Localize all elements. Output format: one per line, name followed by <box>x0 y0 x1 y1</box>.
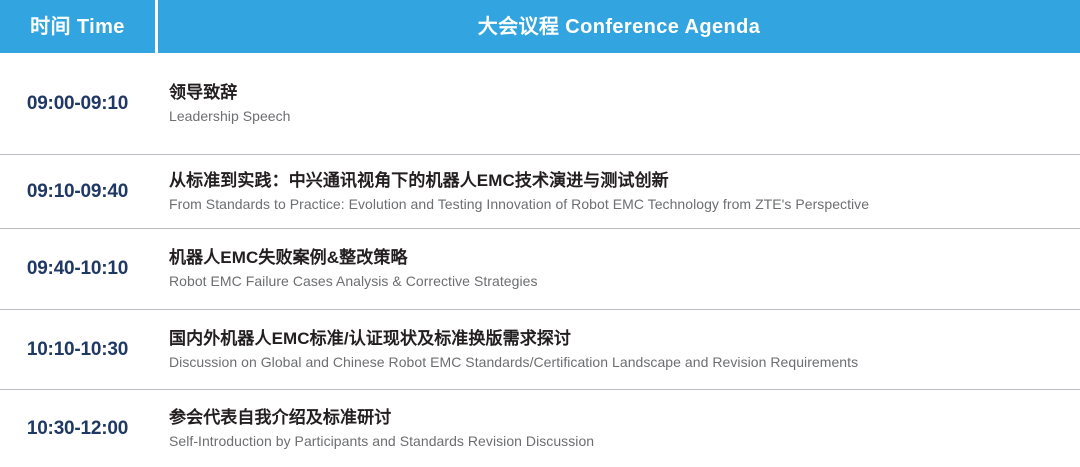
row-time-cell: 09:10-09:40 <box>0 181 155 203</box>
row-title-en: Self-Introduction by Participants and St… <box>169 432 1066 451</box>
table-body: 09:00-09:10 领导致辞 Leadership Speech 09:10… <box>0 53 1080 467</box>
row-agenda-cell: 从标准到实践：中兴通讯视角下的机器人EMC技术演进与测试创新 From Stan… <box>155 170 1080 214</box>
row-title-cn: 机器人EMC失败案例&整改策略 <box>169 247 1066 270</box>
row-agenda-cell: 机器人EMC失败案例&整改策略 Robot EMC Failure Cases … <box>155 247 1080 291</box>
table-row: 09:10-09:40 从标准到实践：中兴通讯视角下的机器人EMC技术演进与测试… <box>0 155 1080 229</box>
row-time-text: 09:10-09:40 <box>27 181 128 203</box>
row-title-cn: 领导致辞 <box>169 82 1066 105</box>
row-title-en: Robot EMC Failure Cases Analysis & Corre… <box>169 272 1066 291</box>
row-time-cell: 10:10-10:30 <box>0 339 155 361</box>
row-time-text: 10:10-10:30 <box>27 339 128 361</box>
table-header-row: 时间 Time 大会议程 Conference Agenda <box>0 0 1080 53</box>
row-title-cn: 从标准到实践：中兴通讯视角下的机器人EMC技术演进与测试创新 <box>169 170 1066 193</box>
row-time-text: 09:00-09:10 <box>27 93 128 115</box>
row-time-text: 09:40-10:10 <box>27 258 128 280</box>
row-title-en: Leadership Speech <box>169 107 1066 126</box>
row-title-en: Discussion on Global and Chinese Robot E… <box>169 353 1066 372</box>
row-title-en: From Standards to Practice: Evolution an… <box>169 195 1066 214</box>
row-time-cell: 09:00-09:10 <box>0 93 155 115</box>
header-agenda-label: 大会议程 Conference Agenda <box>478 17 761 37</box>
table-row: 09:00-09:10 领导致辞 Leadership Speech <box>0 53 1080 155</box>
conference-agenda-table: 时间 Time 大会议程 Conference Agenda 09:00-09:… <box>0 0 1080 467</box>
header-cell-time: 时间 Time <box>0 0 155 53</box>
table-row: 09:40-10:10 机器人EMC失败案例&整改策略 Robot EMC Fa… <box>0 229 1080 310</box>
header-time-label: 时间 Time <box>30 17 125 37</box>
table-row: 10:30-12:00 参会代表自我介绍及标准研讨 Self-Introduct… <box>0 390 1080 467</box>
row-time-cell: 09:40-10:10 <box>0 258 155 280</box>
row-agenda-cell: 参会代表自我介绍及标准研讨 Self-Introduction by Parti… <box>155 407 1080 451</box>
row-agenda-cell: 国内外机器人EMC标准/认证现状及标准换版需求探讨 Discussion on … <box>155 328 1080 372</box>
row-time-text: 10:30-12:00 <box>27 418 128 440</box>
table-row: 10:10-10:30 国内外机器人EMC标准/认证现状及标准换版需求探讨 Di… <box>0 310 1080 390</box>
row-agenda-cell: 领导致辞 Leadership Speech <box>155 82 1080 126</box>
row-title-cn: 参会代表自我介绍及标准研讨 <box>169 407 1066 430</box>
row-title-cn: 国内外机器人EMC标准/认证现状及标准换版需求探讨 <box>169 328 1066 351</box>
header-cell-agenda: 大会议程 Conference Agenda <box>158 0 1080 53</box>
row-time-cell: 10:30-12:00 <box>0 418 155 440</box>
